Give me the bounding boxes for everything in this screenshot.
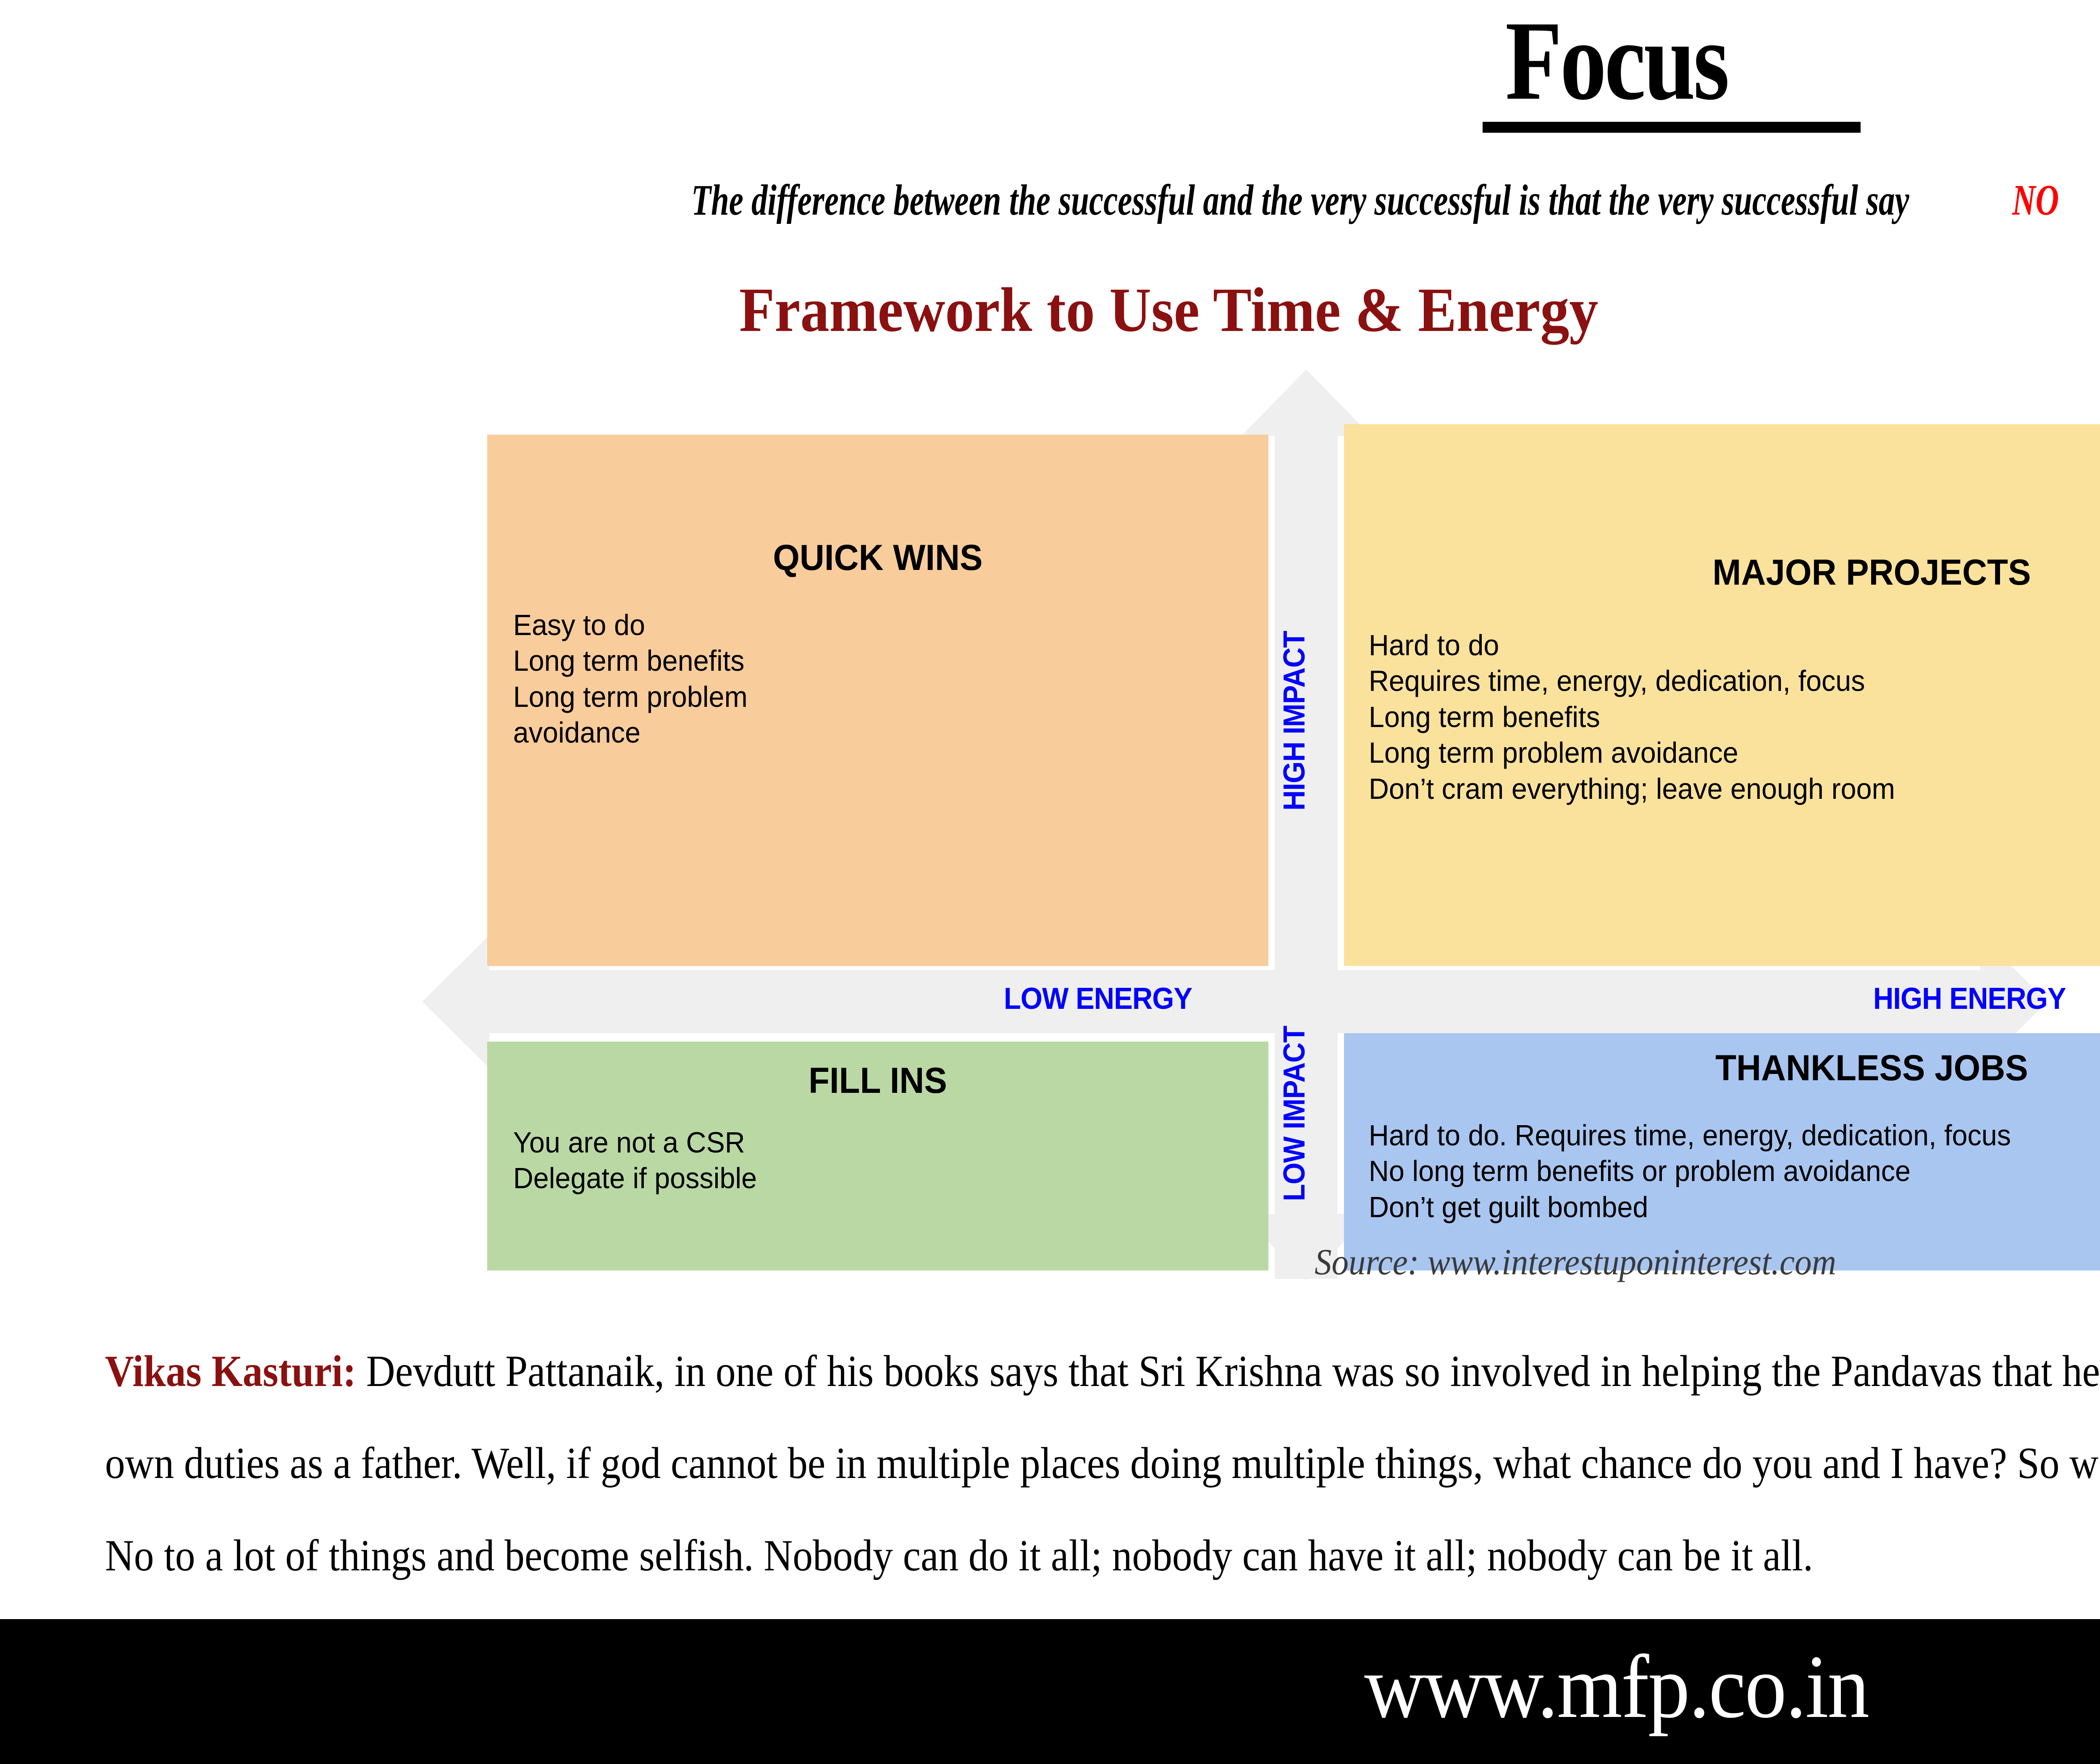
quadrant-line: You are not a CSR	[513, 1125, 1229, 1160]
quadrant-line: Hard to do. Requires time, energy, dedic…	[1369, 1118, 2100, 1153]
title-underline-rule	[1483, 122, 1861, 133]
naval-quote-line: to get something. If you value yourself …	[2096, 696, 2100, 798]
quadrant-line: avoidance	[513, 715, 1229, 751]
quadrant-line: Requires time, energy, dedication, focus	[1369, 663, 2100, 699]
quadrant-body: Hard to do. Requires time, energy, dedic…	[1344, 1086, 2100, 1225]
quadrant-body: You are not a CSR Delegate if possible	[487, 1099, 1229, 1197]
quadrant-quick-wins[interactable]: QUICK WINS Easy to do Long term benefits…	[487, 435, 1268, 966]
naval-quote-line: one hundred dollars an hour, that’s	[2096, 798, 2100, 900]
quadrant-line: Long term problem	[513, 679, 1229, 715]
time-energy-matrix: QUICK WINS Easy to do Long term benefits…	[420, 370, 2041, 1285]
quadrant-line: Don’t get guilt bombed	[1369, 1189, 2100, 1225]
footer-url-wrap[interactable]: www.mfp.co.in	[0, 1621, 2100, 1752]
quadrant-line: Delegate if possible	[513, 1160, 1229, 1196]
naval-quote-line: of your pocket. Are you going to do that…	[2096, 1003, 2100, 1105]
horizontal-axis-shaft	[489, 970, 1982, 1033]
naval-attribution-wrap: -Naval Ravikant	[2041, 1092, 2100, 1143]
quadrant-title: MAJOR PROJECTS	[1370, 424, 2100, 591]
quadrant-line: Long term problem avoidance	[1369, 735, 2100, 771]
quadrant-line: No long term benefits or problem avoidan…	[1369, 1153, 2100, 1189]
quadrant-line: Long term benefits	[513, 643, 1229, 679]
paragraph-line: Vikas Kasturi: Devdutt Pattanaik, in one…	[105, 1325, 2100, 1417]
naval-quote-line: decision. How much time does it take? If…	[2096, 493, 2100, 595]
paragraph-line: own duties as a father. Well, if god can…	[105, 1417, 2100, 1509]
naval-quote-line: basically throwing one hundred dollars o…	[2096, 900, 2100, 1003]
quadrant-fill-ins[interactable]: FILL INS You are not a CSR Delegate if p…	[487, 1042, 1268, 1270]
paragraph-text: Devdutt Pattanaik, in one of his books s…	[356, 1347, 2100, 1396]
axis-label-low-impact: LOW IMPACT	[1279, 1026, 1310, 1201]
quadrant-line: Don’t cram everything; leave enough room	[1369, 771, 2100, 807]
quadrant-line: Easy to do	[513, 607, 1229, 643]
quadrant-line: Long term benefits	[1369, 699, 2100, 735]
naval-quote-line: going to take you an hour to get across …	[2096, 595, 2100, 697]
quadrant-major-projects[interactable]: MAJOR PROJECTS Hard to do Requires time,…	[1344, 424, 2100, 966]
title-container: Focus	[0, 4, 2100, 118]
quadrant-thankless-jobs[interactable]: THANKLESS JOBS Hard to do. Requires time…	[1344, 1033, 2100, 1270]
quadrant-title: FILL INS	[507, 1042, 1249, 1099]
buffett-quote-emphasis: NO	[2012, 176, 2059, 224]
paragraph-text: own duties as a father. Well, if god can…	[105, 1417, 2100, 1509]
naval-quote: “Always factor your time into every deci…	[2041, 391, 2100, 1104]
axis-label-low-energy: LOW ENERGY	[1004, 984, 1192, 1014]
axis-label-high-impact: HIGH IMPACT	[1279, 631, 1310, 811]
quadrant-title: THANKLESS JOBS	[1370, 1033, 2100, 1086]
page-title: Focus	[1501, 4, 1730, 118]
paragraph-author: Vikas Kasturi:	[105, 1347, 356, 1396]
paragraph-text: No to a lot of things and become selfish…	[105, 1509, 1813, 1601]
bottom-paragraph: Vikas Kasturi: Devdutt Pattanaik, in one…	[105, 1325, 2100, 1601]
source-attribution: Source: www.interestuponinterest.com	[1315, 1241, 1836, 1284]
axis-label-high-energy: HIGH ENERGY	[1873, 984, 2066, 1014]
arrow-left-icon	[422, 935, 489, 1068]
naval-quote-line: “Always factor your time into every	[2096, 391, 2100, 493]
buffett-quote-part1: The difference between the successful an…	[691, 176, 1909, 224]
paragraph-line: No to a lot of things and become selfish…	[105, 1509, 2100, 1601]
buffett-quote: The difference between the successful an…	[0, 176, 2100, 224]
quadrant-body: Easy to do Long term benefits Long term …	[487, 576, 1229, 751]
framework-heading: Framework to Use Time & Energy	[739, 277, 1598, 344]
quadrant-body: Hard to do Requires time, energy, dedica…	[1344, 591, 2100, 807]
slide-canvas: Focus The difference between the success…	[0, 0, 2100, 1764]
footer-url[interactable]: www.mfp.co.in	[1364, 1621, 1868, 1752]
quadrant-title: QUICK WINS	[507, 435, 1249, 576]
quadrant-line: Hard to do	[1369, 627, 2100, 663]
